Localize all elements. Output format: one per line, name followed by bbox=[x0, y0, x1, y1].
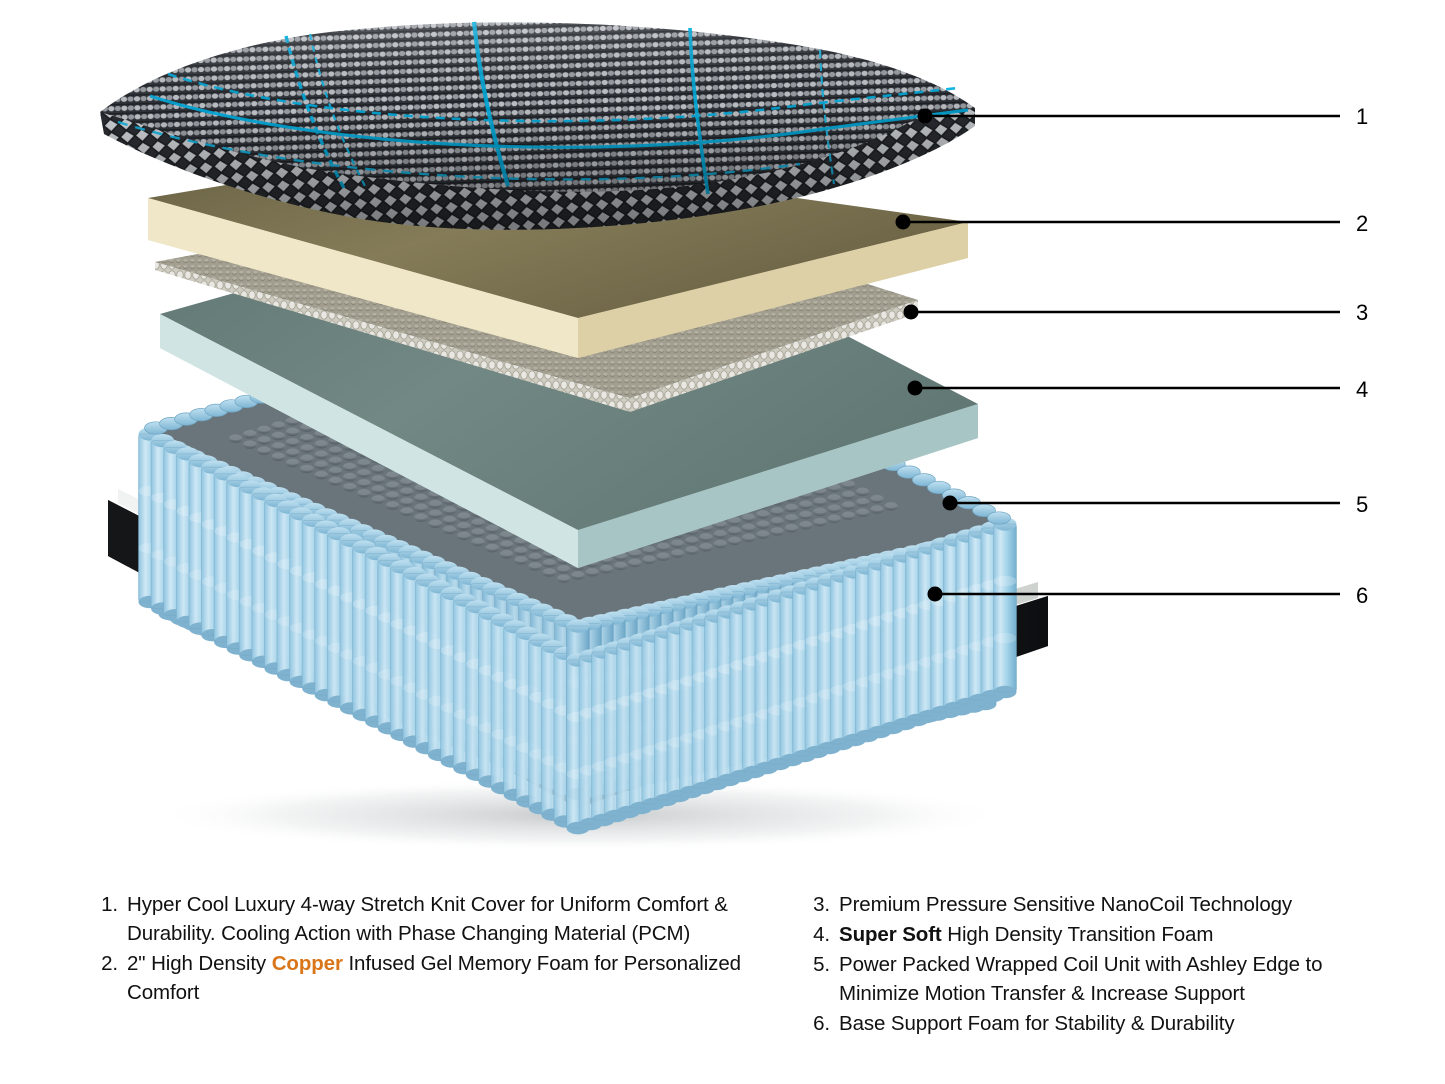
text-run: Hyper Cool Luxury 4-way Stretch Knit Cov… bbox=[127, 893, 728, 945]
legend-item-number: 1. bbox=[88, 890, 127, 919]
legend-item-text: Hyper Cool Luxury 4-way Stretch Knit Cov… bbox=[127, 890, 778, 948]
legend-item-text: Premium Pressure Sensitive NanoCoil Tech… bbox=[839, 890, 1400, 919]
legend-item: 3.Premium Pressure Sensitive NanoCoil Te… bbox=[800, 890, 1400, 919]
legend-item: 4.Super Soft High Density Transition Foa… bbox=[800, 920, 1400, 949]
callout-number-1: 1 bbox=[1356, 104, 1368, 130]
legend-item: 6.Base Support Foam for Stability & Dura… bbox=[800, 1009, 1400, 1038]
callout-number-5: 5 bbox=[1356, 492, 1368, 518]
legend-item-text: Power Packed Wrapped Coil Unit with Ashl… bbox=[839, 950, 1400, 1008]
text-run: High Density Transition Foam bbox=[942, 923, 1214, 946]
legend-item-number: 2. bbox=[88, 949, 127, 978]
legend-item-text: Base Support Foam for Stability & Durabi… bbox=[839, 1009, 1400, 1038]
legend-item: 2.2" High Density Copper Infused Gel Mem… bbox=[88, 949, 778, 1007]
legend-column-right: 3.Premium Pressure Sensitive NanoCoil Te… bbox=[800, 890, 1400, 1039]
callout-number-2: 2 bbox=[1356, 211, 1368, 237]
legend-item-number: 4. bbox=[800, 920, 839, 949]
legend-column-left: 1.Hyper Cool Luxury 4-way Stretch Knit C… bbox=[88, 890, 778, 1008]
legend-item-number: 3. bbox=[800, 890, 839, 919]
text-run: Premium Pressure Sensitive NanoCoil Tech… bbox=[839, 893, 1292, 916]
callout-number-4: 4 bbox=[1356, 377, 1368, 403]
bold-emphasis: Super Soft bbox=[839, 923, 942, 946]
legend-item-text: Super Soft High Density Transition Foam bbox=[839, 920, 1400, 949]
text-run: Power Packed Wrapped Coil Unit with Ashl… bbox=[839, 953, 1322, 1005]
legend: 1.Hyper Cool Luxury 4-way Stretch Knit C… bbox=[0, 890, 1445, 1080]
legend-item-text: 2" High Density Copper Infused Gel Memor… bbox=[127, 949, 778, 1007]
text-run: Base Support Foam for Stability & Durabi… bbox=[839, 1012, 1235, 1035]
legend-item: 1.Hyper Cool Luxury 4-way Stretch Knit C… bbox=[88, 890, 778, 948]
text-run: 2" High Density bbox=[127, 952, 272, 975]
callout-number-3: 3 bbox=[1356, 300, 1368, 326]
legend-item-number: 5. bbox=[800, 950, 839, 979]
mattress-layers-svg bbox=[0, 0, 1445, 880]
copper-highlight: Copper bbox=[272, 952, 343, 975]
callout-number-6: 6 bbox=[1356, 583, 1368, 609]
legend-item-number: 6. bbox=[800, 1009, 839, 1038]
exploded-mattress-diagram: 123456 bbox=[0, 0, 1445, 880]
legend-item: 5.Power Packed Wrapped Coil Unit with As… bbox=[800, 950, 1400, 1008]
